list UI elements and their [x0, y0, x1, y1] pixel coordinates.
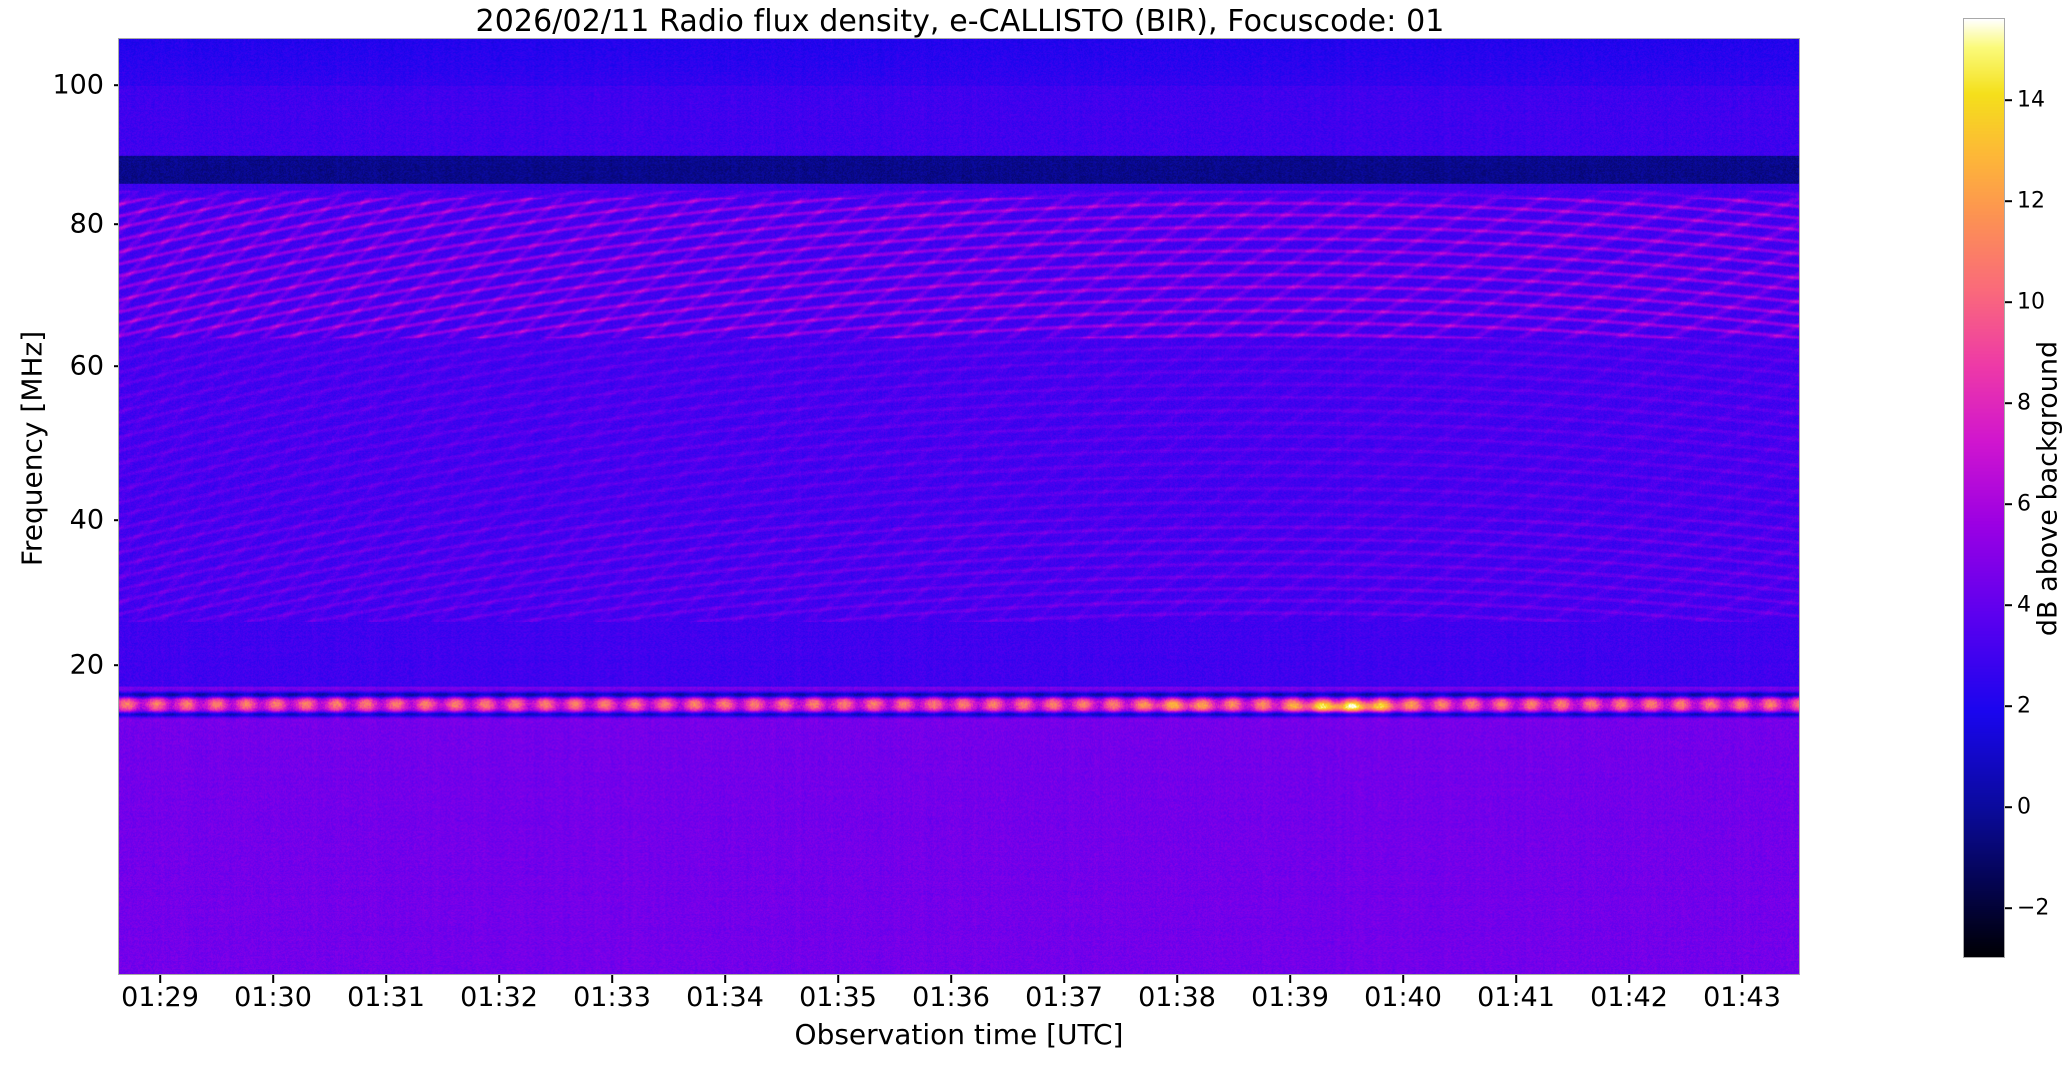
x-tick-label: 01:30 — [234, 982, 312, 1013]
colorbar-tick-label: 14 — [2017, 88, 2045, 113]
colorbar-tick-mark — [2005, 907, 2012, 909]
x-tick-label: 01:37 — [1025, 982, 1103, 1013]
colorbar-tick-mark — [2005, 705, 2012, 707]
figure-canvas: 2026/02/11 Radio flux density, e-CALLIST… — [0, 0, 2066, 1067]
page-title: 2026/02/11 Radio flux density, e-CALLIST… — [0, 4, 1920, 39]
y-tick-label: 20 — [70, 650, 104, 681]
colorbar-tick-label: −2 — [2017, 896, 2049, 921]
x-tick-label: 01:39 — [1251, 982, 1329, 1013]
x-tick-label: 01:42 — [1590, 982, 1668, 1013]
x-tick-label: 01:29 — [121, 982, 199, 1013]
colorbar[interactable] — [1963, 18, 2005, 958]
y-tick-label: 100 — [52, 70, 104, 101]
x-tick-label: 01:34 — [686, 982, 764, 1013]
y-axis-label: Frequency [MHz] — [16, 249, 49, 649]
spectrogram-plot-area[interactable] — [118, 38, 1800, 975]
y-tick-label: 80 — [70, 209, 104, 240]
y-tick-label: 60 — [70, 351, 104, 382]
colorbar-tick-mark — [2005, 402, 2012, 404]
colorbar-tick-mark — [2005, 99, 2012, 101]
colorbar-tick-label: 4 — [2017, 593, 2031, 618]
colorbar-gradient — [1964, 19, 2004, 957]
spectrogram-image — [119, 39, 1799, 974]
x-tick-label: 01:32 — [460, 982, 538, 1013]
x-tick-label: 01:40 — [1364, 982, 1442, 1013]
colorbar-tick-mark — [2005, 806, 2012, 808]
colorbar-tick-label: 2 — [2017, 694, 2031, 719]
colorbar-tick-mark — [2005, 604, 2012, 606]
colorbar-tick-label: 6 — [2017, 492, 2031, 517]
x-axis-label: Observation time [UTC] — [118, 1018, 1800, 1051]
x-tick-label: 01:41 — [1477, 982, 1555, 1013]
colorbar-tick-mark — [2005, 503, 2012, 505]
colorbar-tick-mark — [2005, 301, 2012, 303]
x-tick-label: 01:43 — [1703, 982, 1781, 1013]
y-tick-label: 40 — [70, 505, 104, 536]
colorbar-tick-label: 12 — [2017, 189, 2045, 214]
colorbar-tick-label: 8 — [2017, 391, 2031, 416]
x-tick-label: 01:35 — [799, 982, 877, 1013]
colorbar-label: dB above background — [2033, 289, 2064, 689]
colorbar-container: 14121086420−2 dB above background — [1963, 18, 2066, 978]
x-tick-label: 01:31 — [347, 982, 425, 1013]
colorbar-tick-mark — [2005, 200, 2012, 202]
x-tick-label: 01:36 — [912, 982, 990, 1013]
colorbar-tick-label: 0 — [2017, 795, 2031, 820]
x-tick-label: 01:33 — [573, 982, 651, 1013]
x-tick-label: 01:38 — [1138, 982, 1216, 1013]
